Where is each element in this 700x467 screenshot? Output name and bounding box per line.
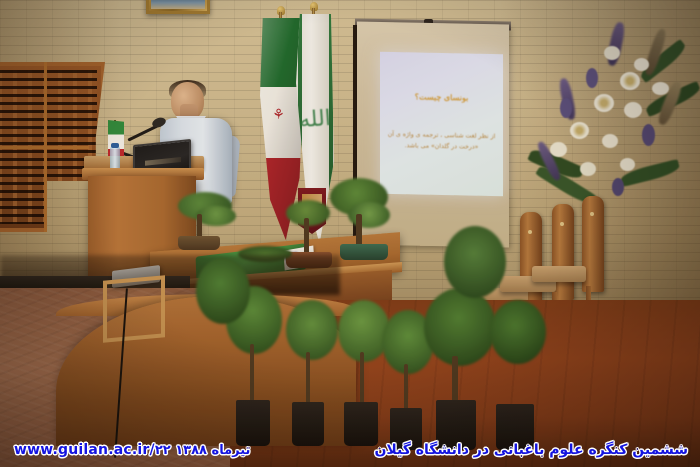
bouquet-purple-2 xyxy=(642,124,655,146)
bouquet-bloom-8 xyxy=(550,142,567,157)
panel-seam-vertical xyxy=(44,62,47,232)
potted-plant-pot-2 xyxy=(390,408,422,450)
slide-body: از نظر لغت شناسی ، ترجمه ی واژه ی آن «در… xyxy=(385,128,498,153)
potted-plant-pot-3 xyxy=(436,400,476,450)
bouquet-bloom-3 xyxy=(620,72,640,90)
potted-plant-stem-6 xyxy=(306,352,310,408)
conference-photo: بونسای چیست؟ از نظر لغت شناسی ، ترجمه ی … xyxy=(0,0,700,467)
bouquet-bloom-10 xyxy=(580,162,596,176)
bouquet-purple-1 xyxy=(586,68,598,88)
bouquet-bloom-11 xyxy=(620,158,635,171)
iran-emblem: ⚘ xyxy=(272,108,288,124)
bouquet-bloom-9 xyxy=(652,82,669,95)
tall-plant-behind-chairs xyxy=(444,226,506,298)
podium-side-plant xyxy=(196,258,250,324)
potted-plant-pot-6 xyxy=(292,402,324,446)
bouquet-bloom-5 xyxy=(624,102,642,118)
bouquet-bloom-4 xyxy=(594,94,614,112)
potted-plant-pot-5 xyxy=(236,400,270,446)
bonsai-pot-1 xyxy=(178,236,220,250)
bouquet-bloom-1 xyxy=(604,46,620,60)
potted-plant-pot-4 xyxy=(496,404,534,450)
potted-plant-pot-1 xyxy=(344,402,378,446)
chair-seat-3[interactable] xyxy=(532,266,586,282)
potted-plant-stem-5 xyxy=(250,344,254,408)
bouquet-bloom-6 xyxy=(570,122,589,139)
bouquet-bloom-2 xyxy=(634,58,649,71)
bonsai-trunk-1 xyxy=(197,214,202,238)
slide-title: بونسای چیست؟ xyxy=(380,91,503,103)
chair-stud-3 xyxy=(590,212,594,216)
bonsai-foliage-1b xyxy=(196,206,236,226)
chair-stud-1 xyxy=(528,230,532,234)
bonsai-foliage-3b xyxy=(348,202,390,228)
water-bottle-cap xyxy=(111,143,119,148)
slide-body-line-2: «درخت در گلدان» می باشد. xyxy=(385,140,498,154)
university-flag-calligraphy: الله xyxy=(298,108,331,132)
framed-picture xyxy=(146,0,210,14)
floral-arrangement xyxy=(524,18,696,233)
bonsai-trunk-3 xyxy=(356,214,362,248)
potted-plant-foliage-1 xyxy=(338,300,390,362)
potted-plant-foliage-4 xyxy=(490,300,546,364)
equipment-stool xyxy=(103,275,165,342)
bonsai-trunk-2 xyxy=(304,218,309,254)
chair-stud-2 xyxy=(560,222,564,226)
potted-plant-foliage-6 xyxy=(286,300,338,360)
bouquet-purple-4 xyxy=(612,178,624,196)
bouquet-spike-1 xyxy=(606,21,627,67)
projected-slide: بونسای چیست؟ از نظر لغت شناسی ، ترجمه ی … xyxy=(380,52,503,197)
bouquet-bloom-7 xyxy=(602,134,618,148)
bouquet-purple-3 xyxy=(560,98,572,118)
bonsai-pot-3 xyxy=(340,244,388,260)
potted-plant-foliage-3 xyxy=(424,288,496,366)
